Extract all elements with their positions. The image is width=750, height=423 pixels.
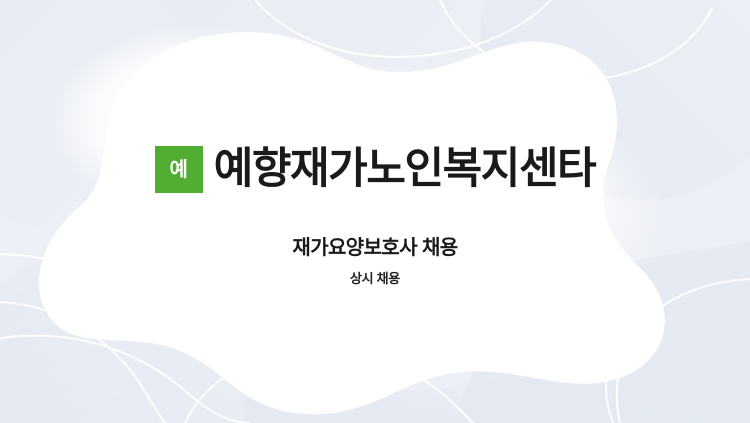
brand-row: 예 예향재가노인복지센타 (0, 146, 750, 193)
organization-logo-badge: 예 (155, 146, 203, 193)
job-subheadline: 상시 채용 (0, 271, 750, 288)
poster-content: 예 예향재가노인복지센타 재가요양보호사 채용 상시 채용 (0, 0, 750, 423)
job-headline: 재가요양보호사 채용 (0, 236, 750, 261)
job-posting-banner: 예 예향재가노인복지센타 재가요양보호사 채용 상시 채용 (0, 0, 750, 423)
organization-name: 예향재가노인복지센타 (214, 148, 596, 191)
